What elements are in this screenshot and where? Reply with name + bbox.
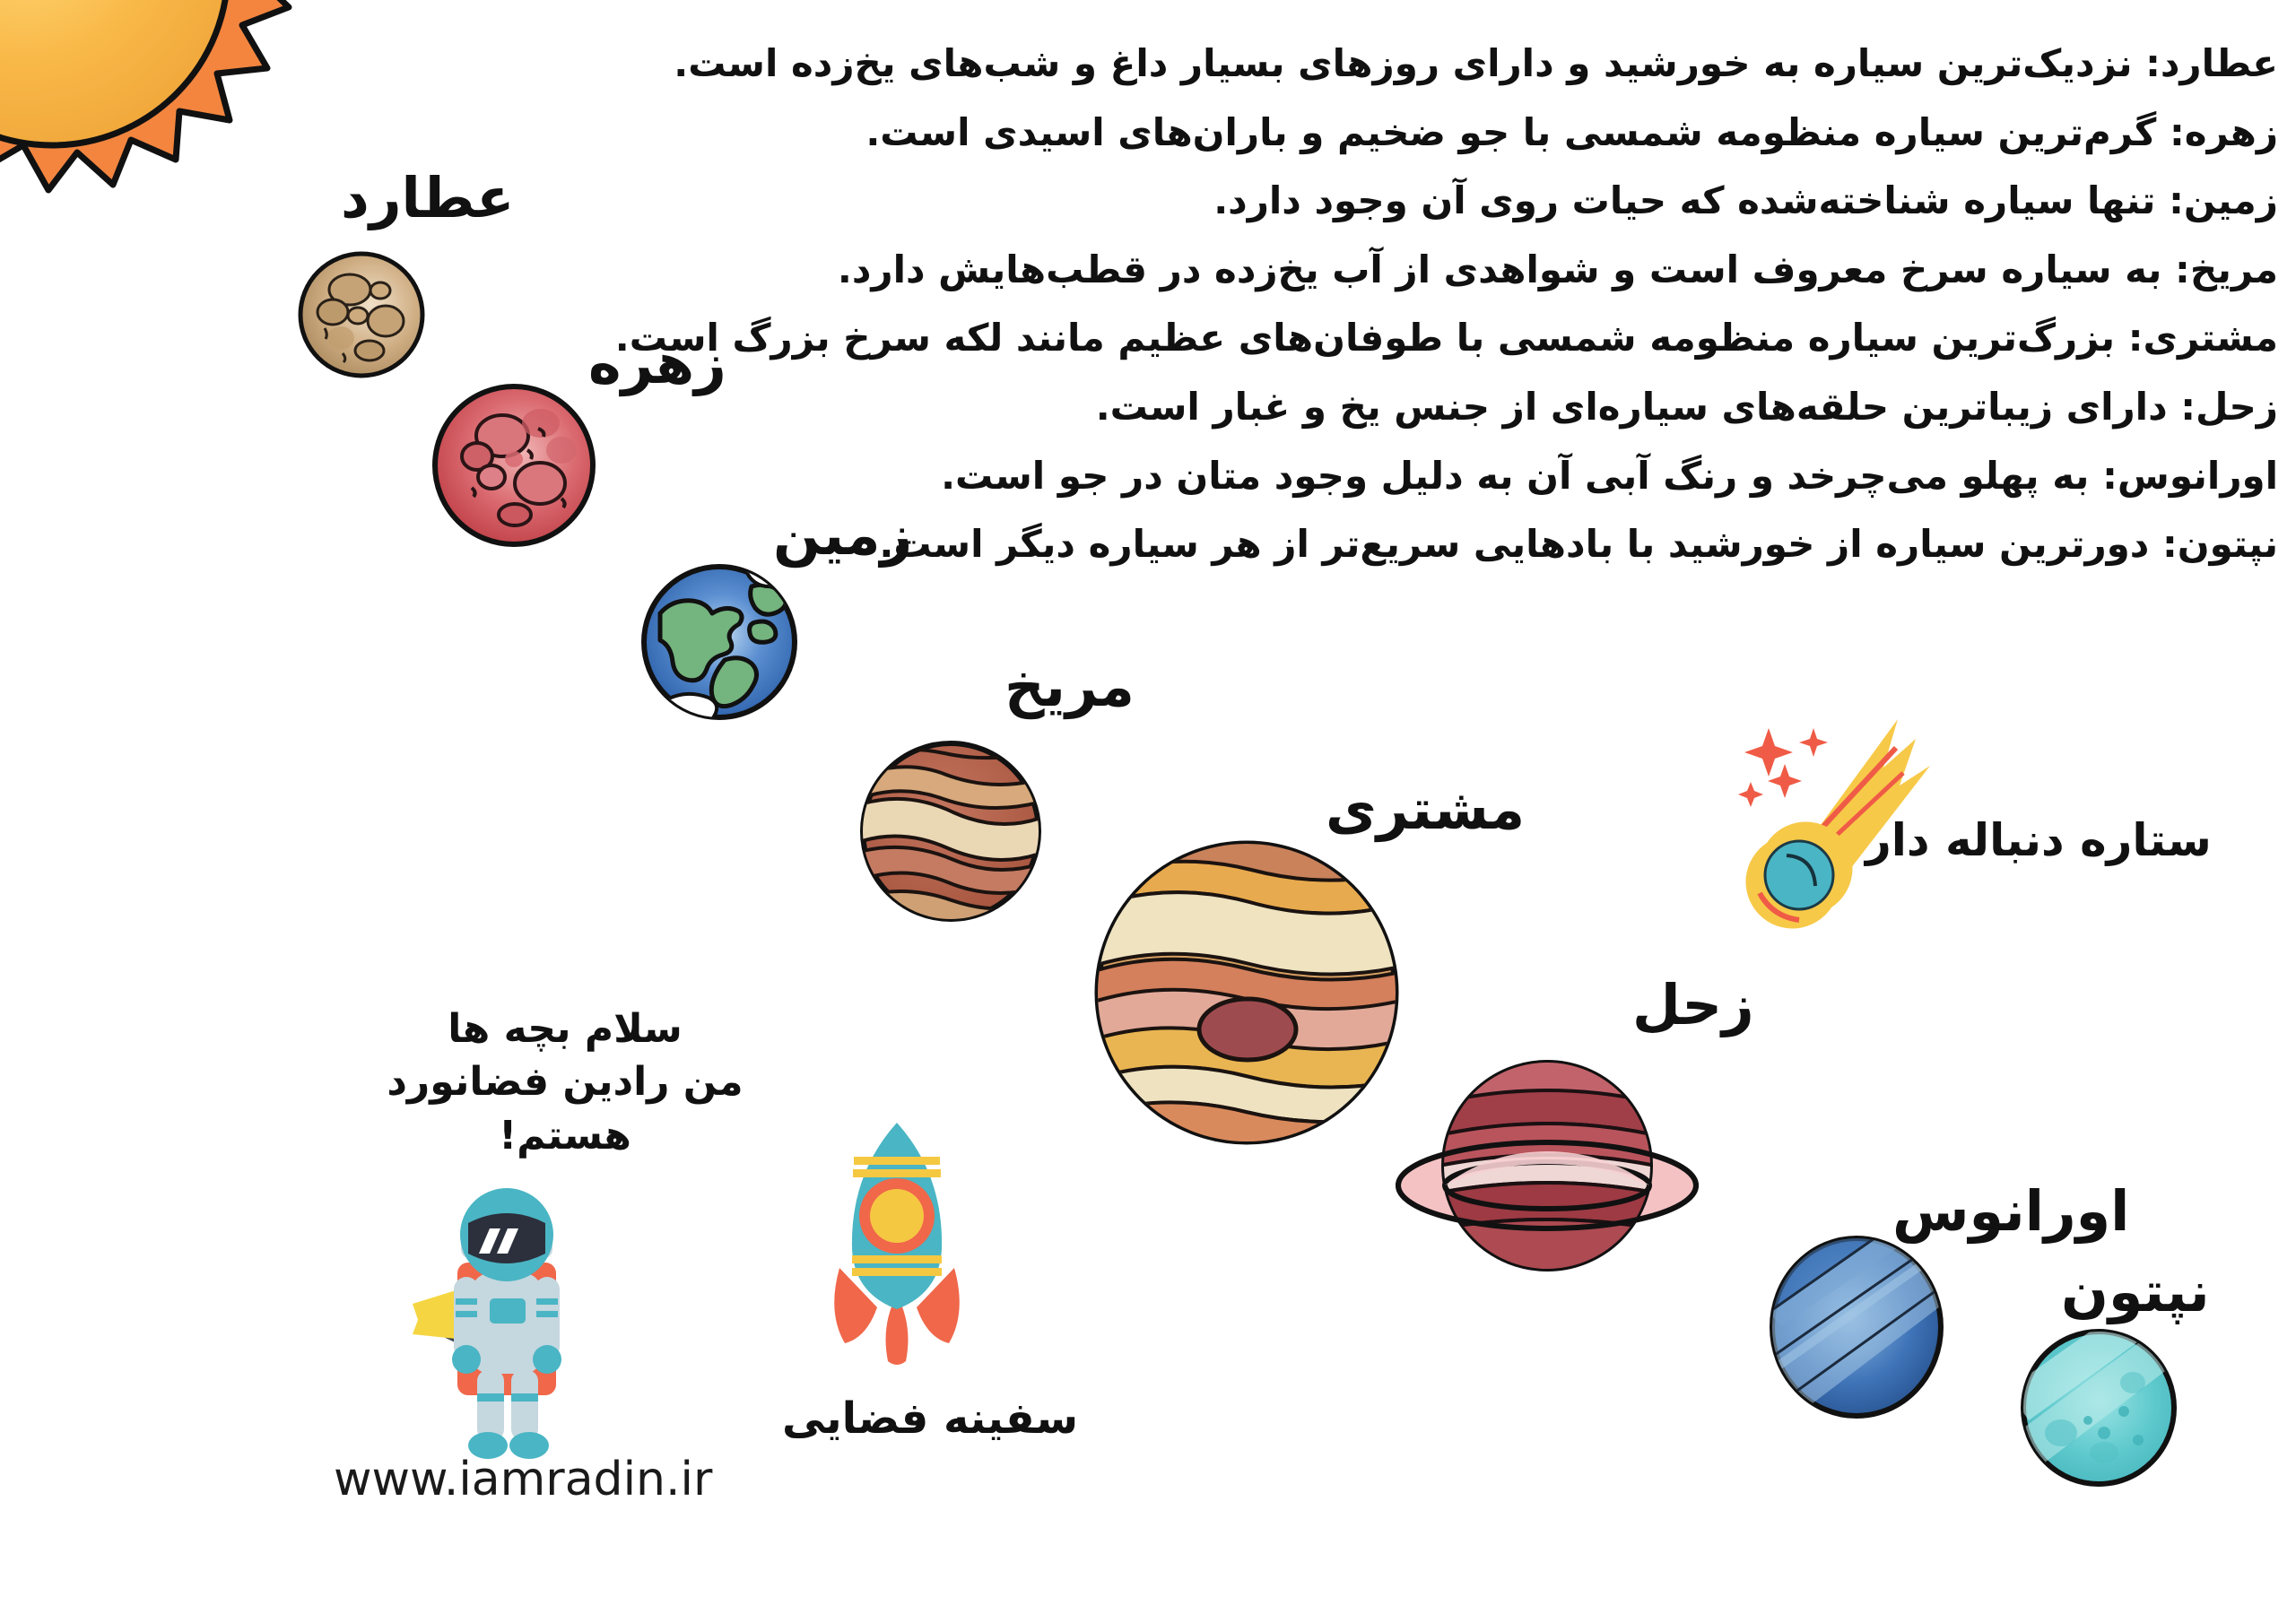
fact-uranus: اورانوس: به پهلو می‌چرخد و رنگ آبی آن به… <box>861 452 2278 501</box>
fact-venus: زهره: گرم‌ترین سیاره منظومه شمسی با جو ض… <box>861 108 2278 158</box>
rocket-illustration <box>807 1119 987 1388</box>
label-mars: مریخ <box>1004 659 1135 715</box>
label-jupiter: مشتری <box>1326 782 1525 838</box>
fact-jupiter: مشتری: بزرگ‌ترین سیاره منظومه شمسی با طو… <box>861 314 2278 363</box>
fact-neptune: نپتون: دورترین سیاره از خورشید با بادهای… <box>861 520 2278 569</box>
label-rocket: سفینه فضایی <box>782 1397 1078 1440</box>
planet-mercury <box>294 247 429 382</box>
planet-jupiter <box>1090 836 1404 1150</box>
planet-uranus <box>1767 1233 1946 1421</box>
fact-earth: زمین: تنها سیاره شناخته‌شده که حیات روی … <box>861 177 2278 226</box>
planet-saturn <box>1395 1051 1700 1284</box>
label-neptune: نپتون <box>2061 1264 2210 1320</box>
planet-facts-list: عطارد: نزدیک‌ترین سیاره به خورشید و دارا… <box>861 39 2278 589</box>
sun-illustration <box>0 0 296 260</box>
label-mercury: عطارد <box>341 170 515 226</box>
label-uranus: اورانوس <box>1892 1184 2129 1239</box>
planet-earth <box>639 561 800 723</box>
site-url[interactable]: www.iamradin.ir <box>334 1453 712 1506</box>
fact-saturn: زحل: دارای زیباترین حلقه‌های سیاره‌ای از… <box>861 383 2278 432</box>
astronaut-speech-bubble: سلام بچه ها من رادین فضانورد هستم! <box>386 1002 744 1162</box>
fact-mercury: عطارد: نزدیک‌ترین سیاره به خورشید و دارا… <box>861 39 2278 89</box>
fact-mars: مریخ: به سیاره سرخ معروف است و شواهدی از… <box>861 246 2278 295</box>
planet-mars <box>857 737 1045 925</box>
label-comet: ستاره دنباله دار <box>1865 818 2212 863</box>
planet-venus <box>429 380 599 551</box>
solar-system-poster: عطارد زهره <box>0 0 2296 1623</box>
planet-neptune <box>2018 1327 2179 1488</box>
label-saturn: زحل <box>1632 977 1754 1033</box>
astronaut-illustration <box>405 1141 612 1472</box>
speech-line-1: سلام بچه ها <box>386 1002 744 1055</box>
